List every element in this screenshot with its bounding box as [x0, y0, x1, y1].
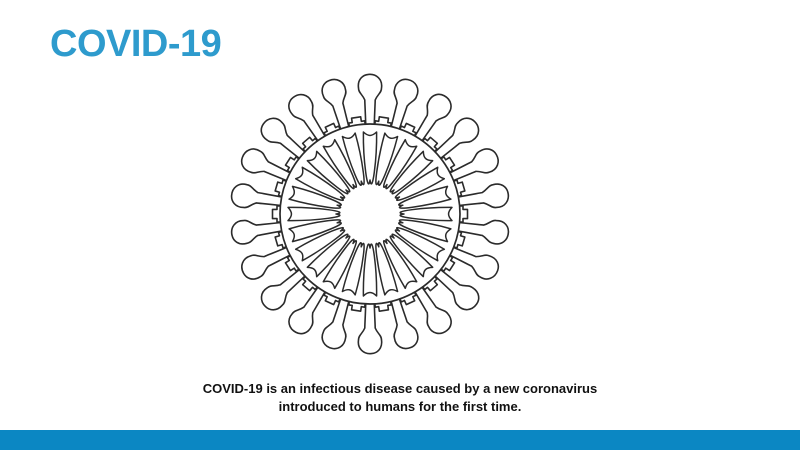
caption-line-2: introduced to humans for the first time.: [0, 398, 800, 416]
coronavirus-illustration: [222, 66, 518, 362]
page-title: COVID-19: [50, 24, 221, 66]
coronavirus-svg: [222, 66, 518, 362]
footer-accent-bar: [0, 430, 800, 450]
caption-text: COVID-19 is an infectious disease caused…: [0, 380, 800, 415]
slide-canvas: COVID-19 COVID-19 is an infectious disea…: [0, 0, 800, 450]
caption-line-1: COVID-19 is an infectious disease caused…: [0, 380, 800, 398]
